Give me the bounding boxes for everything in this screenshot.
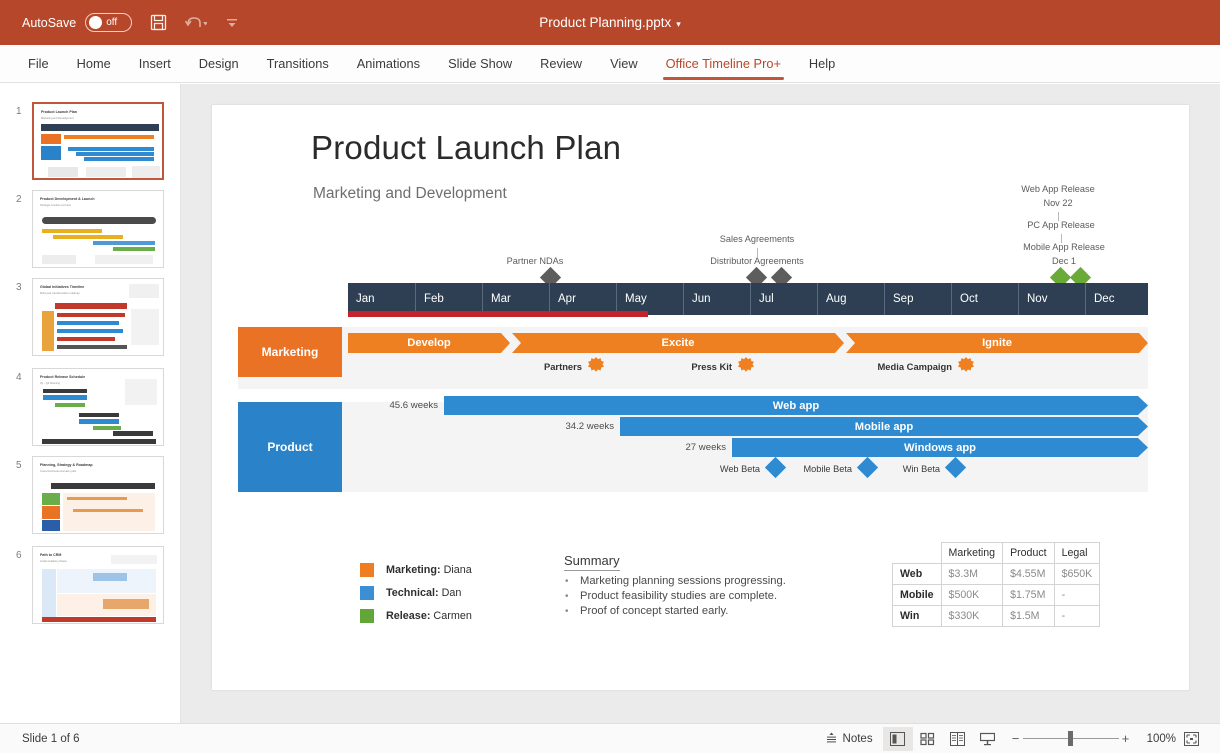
thumbnail-title: Product Development & Launch (40, 197, 95, 201)
phase-label: Develop (407, 337, 451, 349)
thumbnail-subtitle: Q1 - Q4 Planning (40, 382, 60, 385)
thumbnail-number: 2 (16, 194, 22, 205)
mini-bar (57, 313, 125, 317)
mini-timeline-band (42, 617, 156, 622)
product-milestone-label-win-beta: Win Beta (890, 464, 940, 474)
thumbnail-slide-5[interactable]: 5 Planning, Strategy & Roadmap Cross-fun… (0, 454, 181, 542)
marketing-phase-excite[interactable]: Excite (512, 333, 844, 353)
mini-bar (79, 419, 119, 424)
mini-lane-tag (42, 569, 56, 619)
slide-canvas-area: Product Launch Plan Marketing and Develo… (181, 84, 1220, 723)
mini-bar (79, 413, 119, 417)
thumbnail-number: 6 (16, 550, 22, 561)
tab-office-timeline-pro[interactable]: Office Timeline Pro+ (652, 45, 795, 83)
phase-label: Ignite (982, 337, 1012, 349)
marketing-milestone-label-partners: Partners (522, 361, 582, 372)
mini-table (132, 166, 160, 178)
thumbnail-slide-1[interactable]: 1 Product Launch Plan Marketing and Deve… (0, 100, 181, 188)
slide-sorter-icon[interactable] (913, 727, 943, 751)
product-lane-tag[interactable]: Product (238, 402, 342, 492)
document-title: Product Planning.pptx (539, 15, 671, 30)
thumbnail-number: 1 (16, 106, 22, 117)
milestone-label-distributor-agreements: Distributor Agreements (690, 256, 824, 266)
phase-label: Excite (662, 337, 695, 349)
mini-bar (113, 247, 155, 251)
product-bar-duration-web-app: 45.6 weeks (370, 400, 438, 411)
thumbnail-title: Product Launch Plan (41, 110, 77, 114)
mini-legend (42, 255, 76, 264)
mini-timeline-band (51, 483, 155, 489)
legend-owner: Carmen (433, 610, 471, 622)
zoom-slider-knob[interactable] (1068, 731, 1073, 746)
mini-table (129, 284, 159, 298)
slide-surface[interactable]: Product Launch Plan Marketing and Develo… (212, 105, 1189, 690)
notes-icon (825, 731, 838, 747)
thumbnail-subtitle: Marketing and Development (41, 117, 73, 120)
thumbnail-title: Global Initiatives Timeline (40, 285, 84, 289)
tab-review[interactable]: Review (526, 45, 596, 83)
mini-bar (73, 509, 143, 512)
title-bar: AutoSave off Product Planning.pptx▾ (0, 0, 1220, 45)
product-bar-windows-app[interactable]: Windows app (732, 438, 1148, 457)
milestone-label-web-app-release: Web App Release (1006, 184, 1110, 194)
mini-bar (68, 147, 154, 151)
thumbnail-title: Path to CRM (40, 553, 61, 557)
slide-thumbnail-pane[interactable]: 1 Product Launch Plan Marketing and Deve… (0, 84, 181, 723)
mini-lane-tag (42, 520, 60, 531)
table-row-label-mobile: Mobile (893, 585, 942, 606)
mini-bar (57, 321, 119, 325)
product-bar-label: Windows app (904, 442, 976, 454)
slide-subtitle[interactable]: Marketing and Development (313, 185, 507, 203)
mini-bar (76, 152, 154, 156)
legend-swatch-technical (360, 586, 374, 600)
mini-bar (84, 157, 154, 161)
thumbnail-subtitle: Implementation phases (40, 560, 67, 563)
timeline-month-dec: Dec (1085, 283, 1148, 315)
summary-bullet: • (565, 606, 569, 617)
thumbnail-slide-4[interactable]: 4 Product Release Schedule Q1 - Q4 Plann… (0, 366, 181, 454)
slide-title[interactable]: Product Launch Plan (311, 129, 621, 167)
status-bar: Slide 1 of 6 Notes − + 100% (0, 723, 1220, 753)
tab-transitions[interactable]: Transitions (253, 45, 343, 83)
mini-bar (53, 235, 123, 239)
mini-bar (57, 329, 123, 333)
mini-timeline-band (41, 124, 159, 131)
mini-timeline-band (42, 439, 156, 444)
thumbnail-preview[interactable]: Product Launch Plan Marketing and Develo… (32, 102, 164, 180)
mini-bar (55, 403, 85, 407)
slide-counter: Slide 1 of 6 (22, 733, 80, 745)
thumbnail-subtitle: Cross-functional execution plan (40, 470, 76, 473)
mini-summary (86, 167, 126, 177)
summary-bullet: • (565, 591, 569, 602)
product-milestone-label-mobile-beta: Mobile Beta (790, 464, 852, 474)
product-lane-label: Product (267, 440, 312, 454)
marketing-milestone-label-media-campaign: Media Campaign (872, 361, 952, 372)
mini-bar (64, 135, 154, 139)
timeline-progress-bar (348, 311, 648, 317)
mini-bar (67, 497, 127, 500)
mini-legend (48, 167, 78, 177)
milestone-label-partner-ndas: Partner NDAs (490, 256, 580, 266)
table-cell-mobile-product: $1.75M (1003, 585, 1055, 606)
mini-bar (57, 345, 127, 349)
thumbnail-slide-3[interactable]: 3 Global Initiatives Timeline Multi-year… (0, 276, 181, 364)
tab-file[interactable]: File (14, 45, 63, 83)
mini-lane-tag (42, 493, 60, 505)
table-cell-mobile-legal: - (1054, 585, 1100, 606)
legend-entry-technical: Technical: Dan (386, 587, 461, 599)
tab-design[interactable]: Design (185, 45, 253, 83)
normal-view-icon[interactable] (883, 727, 913, 751)
zoom-slider[interactable]: − + (1009, 731, 1133, 746)
mini-summary (95, 255, 153, 264)
table-row: Mobile $500K $1.75M - (893, 585, 1100, 606)
product-bar-duration-windows-app: 27 weeks (662, 442, 726, 453)
product-bar-label: Web app (773, 400, 819, 412)
table-header-row: Marketing Product Legal (893, 543, 1100, 564)
marketing-phase-ignite[interactable]: Ignite (846, 333, 1148, 353)
mini-table (131, 309, 159, 345)
table-cell-web-legal: $650K (1054, 564, 1100, 585)
summary-item-3: Proof of concept started early. (580, 605, 728, 617)
thumbnail-slide-2[interactable]: 2 Product Development & Launch Strategic… (0, 188, 181, 276)
notes-button[interactable]: Notes (825, 731, 873, 747)
mini-timeline-band (42, 217, 156, 224)
tab-insert[interactable]: Insert (125, 45, 185, 83)
tab-animations[interactable]: Animations (343, 45, 434, 83)
timeline-month-oct: Oct (951, 283, 1018, 315)
legend-entry-marketing: Marketing: Diana (386, 564, 472, 576)
timeline-month-jun: Jun (683, 283, 750, 315)
table-cell-win-product: $1.5M (1003, 606, 1055, 627)
legend-swatch-release (360, 609, 374, 623)
timeline-month-aug: Aug (817, 283, 884, 315)
milestone-label-pc-app-release: PC App Release (1009, 220, 1113, 230)
thumbnail-preview[interactable]: Product Development & Launch Strategic t… (32, 190, 164, 268)
thumbnail-preview[interactable]: Product Release Schedule Q1 - Q4 Plannin… (32, 368, 164, 446)
product-bar-mobile-app[interactable]: Mobile app (620, 417, 1148, 436)
table-cell-web-product: $4.55M (1003, 564, 1055, 585)
mini-bar (103, 599, 149, 609)
legend-owner: Dan (442, 587, 462, 599)
table-row: Web $3.3M $4.55M $650K (893, 564, 1100, 585)
milestone-label-sales-agreements: Sales Agreements (702, 234, 812, 244)
timeline-month-jul: Jul (750, 283, 817, 315)
table-cell-web-marketing: $3.3M (941, 564, 1003, 585)
fit-slide-icon[interactable] (1176, 727, 1206, 751)
summary-bullet: • (565, 576, 569, 587)
milestone-date-web-app-release: Nov 22 (1006, 198, 1110, 208)
product-bar-web-app[interactable]: Web app (444, 396, 1148, 415)
notes-label: Notes (843, 733, 873, 745)
legend-role: Technical: (386, 587, 439, 599)
product-bar-duration-mobile-app: 34.2 weeks (546, 421, 614, 432)
table-cell-win-legal: - (1054, 606, 1100, 627)
document-title-caret[interactable]: ▾ (676, 19, 681, 29)
status-bar-right: Notes − + 100% (825, 727, 1220, 751)
timeline-month-nov: Nov (1018, 283, 1085, 315)
tab-view[interactable]: View (596, 45, 652, 83)
table-row-label-web: Web (893, 564, 942, 585)
mini-bar (43, 395, 87, 400)
milestone-date-mobile-app-release: Dec 1 (1017, 256, 1111, 266)
document-title-wrap[interactable]: Product Planning.pptx▾ (0, 15, 1220, 30)
mini-table (125, 379, 157, 405)
table-col-marketing: Marketing (941, 543, 1003, 564)
mini-bar (93, 426, 121, 430)
marketing-phase-develop[interactable]: Develop (348, 333, 510, 353)
thumbnail-title: Planning, Strategy & Roadmap (40, 463, 93, 467)
marketing-milestone-label-press-kit: Press Kit (672, 361, 732, 372)
legend-entry-release: Release: Carmen (386, 610, 472, 622)
mini-bar (42, 229, 102, 233)
mini-lane-tag (41, 146, 61, 160)
legend-role: Release: (386, 610, 430, 622)
mini-timeline-band (55, 303, 127, 309)
summary-item-2: Product feasibility studies are complete… (580, 590, 777, 602)
table-corner-cell (893, 543, 942, 564)
table-row: Win $330K $1.5M - (893, 606, 1100, 627)
zoom-out-button[interactable]: − (1009, 731, 1023, 746)
summary-item-1: Marketing planning sessions progressing. (580, 575, 786, 587)
table-cell-mobile-marketing: $500K (941, 585, 1003, 606)
legend-swatch-marketing (360, 563, 374, 577)
ribbon-tab-bar: File Home Insert Design Transitions Anim… (0, 45, 1220, 83)
reading-view-icon[interactable] (943, 727, 973, 751)
mini-legend (111, 555, 157, 564)
thumbnail-subtitle: Multi-year transformation roadmap (40, 292, 80, 295)
table-col-product: Product (1003, 543, 1055, 564)
mini-lane-tag (42, 311, 54, 351)
thumbnail-slide-6[interactable]: 6 Path to CRM Implementation phases (0, 544, 181, 632)
zoom-in-button[interactable]: + (1119, 731, 1133, 746)
thumbnail-number: 4 (16, 372, 22, 383)
table-col-legal: Legal (1054, 543, 1100, 564)
table-row-label-win: Win (893, 606, 942, 627)
summary-heading: Summary (564, 553, 620, 571)
timeline-month-sep: Sep (884, 283, 951, 315)
mini-bar (93, 573, 127, 581)
product-milestone-label-web-beta: Web Beta (704, 464, 760, 474)
marketing-lane-label: Marketing (262, 345, 319, 359)
mini-bar (57, 337, 115, 341)
product-bar-label: Mobile app (855, 421, 913, 433)
zoom-slider-track[interactable] (1023, 738, 1119, 739)
slide-show-icon[interactable] (973, 727, 1003, 751)
marketing-lane-tag[interactable]: Marketing (238, 327, 342, 377)
tab-slide-show[interactable]: Slide Show (434, 45, 526, 83)
mini-lane-tag (41, 134, 61, 144)
thumbnail-preview[interactable]: Path to CRM Implementation phases (32, 546, 164, 624)
cost-table[interactable]: Marketing Product Legal Web $3.3M $4.55M… (892, 542, 1100, 627)
mini-lane-tag (42, 506, 60, 519)
thumbnail-subtitle: Strategic timeline overview (40, 204, 71, 207)
legend-owner: Diana (444, 564, 472, 576)
table-cell-win-marketing: $330K (941, 606, 1003, 627)
tab-help[interactable]: Help (795, 45, 849, 83)
milestone-label-mobile-app-release: Mobile App Release (1005, 242, 1123, 252)
thumbnail-preview[interactable]: Planning, Strategy & Roadmap Cross-funct… (32, 456, 164, 534)
thumbnail-preview[interactable]: Global Initiatives Timeline Multi-year t… (32, 278, 164, 356)
mini-bar (93, 241, 155, 245)
thumbnail-number: 5 (16, 460, 22, 471)
zoom-level[interactable]: 100% (1147, 733, 1176, 745)
mini-bar (43, 389, 87, 393)
legend-role: Marketing: (386, 564, 441, 576)
thumbnail-title: Product Release Schedule (40, 375, 85, 379)
tab-home[interactable]: Home (63, 45, 125, 83)
thumbnail-number: 3 (16, 282, 22, 293)
mini-bar (113, 431, 153, 436)
